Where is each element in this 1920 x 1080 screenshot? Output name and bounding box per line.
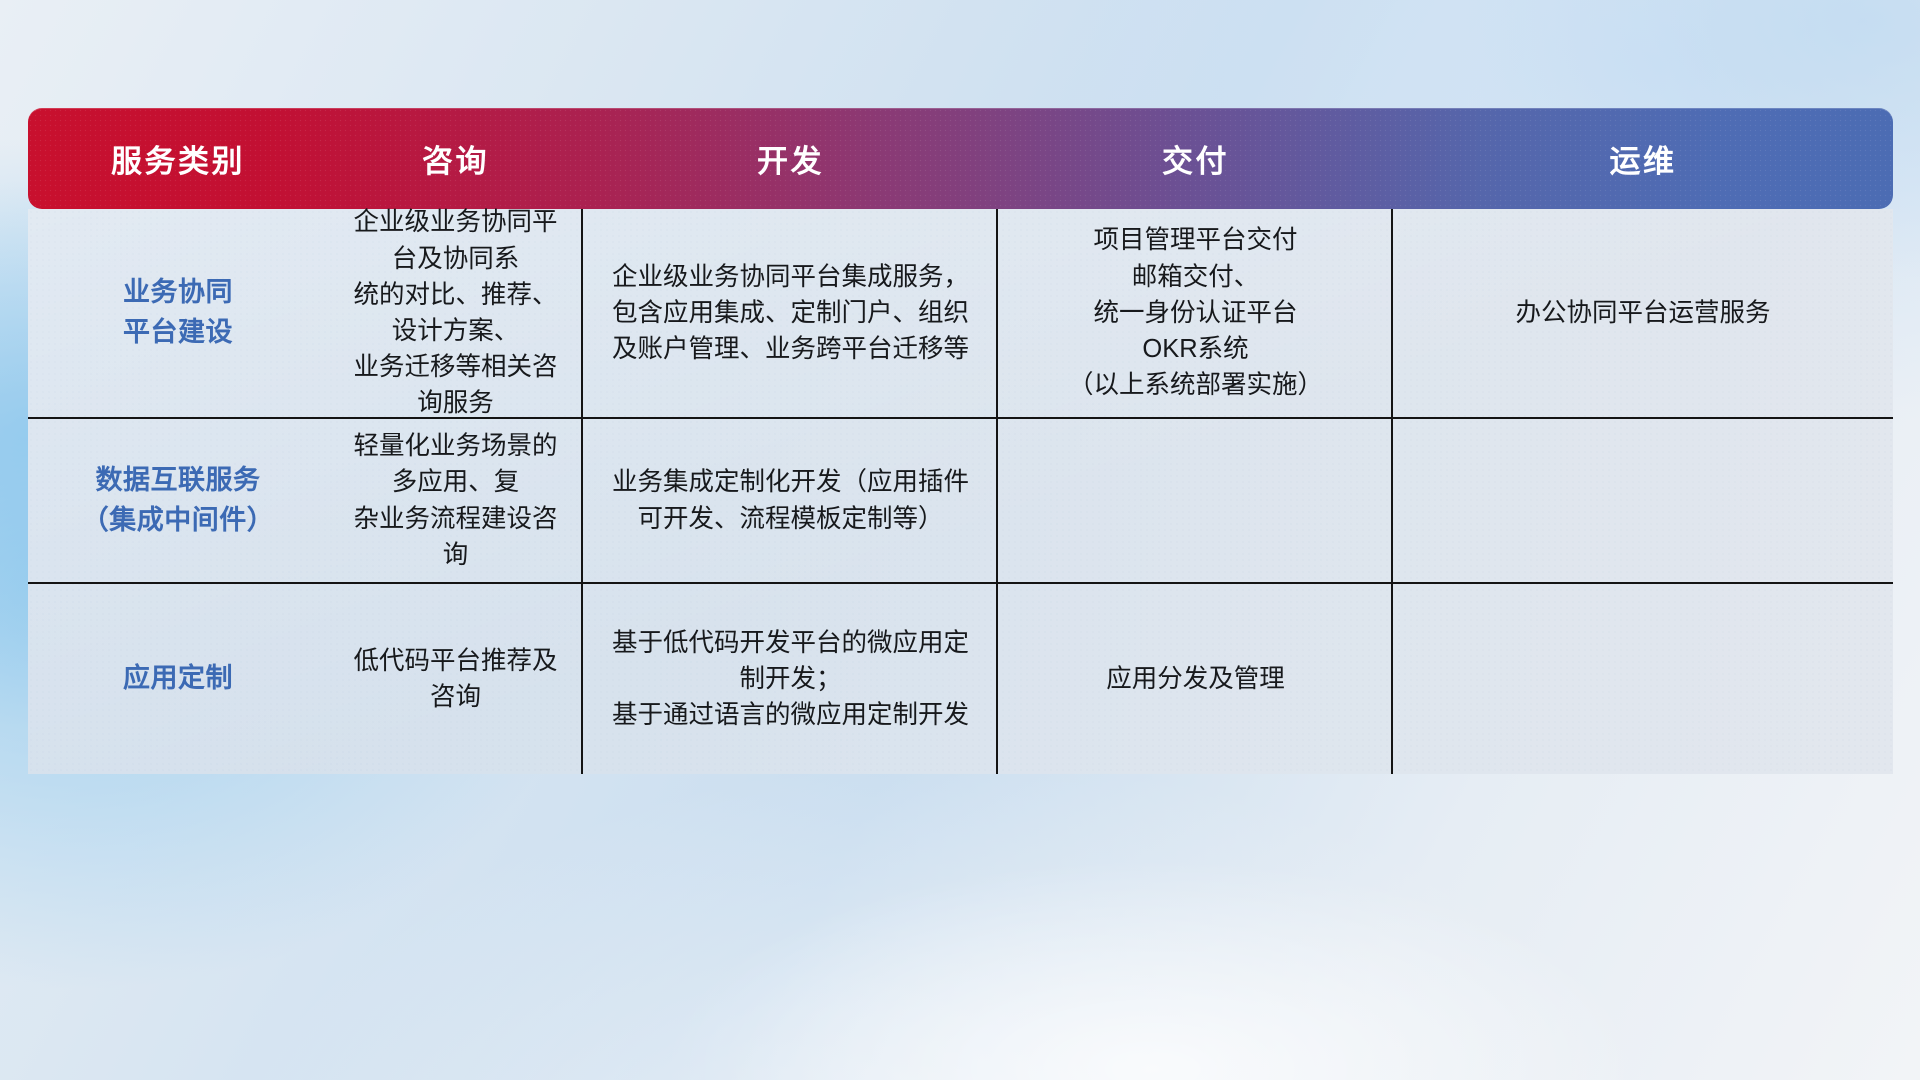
- cell-development-2: 业务集成定制化开发（应用插件 可开发、流程模板定制等）: [583, 419, 998, 582]
- cell-delivery-2: [998, 419, 1393, 582]
- cell-operations-2: [1393, 419, 1893, 582]
- cell-development-3: 基于低代码开发平台的微应用定 制开发； 基于通过语言的微应用定制开发: [583, 584, 998, 774]
- table-body: 业务协同 平台建设 企业级业务协同平台及协同系 统的对比、推荐、设计方案、 业务…: [28, 209, 1893, 774]
- cell-operations-3: [1393, 584, 1893, 774]
- table-row: 应用定制 低代码平台推荐及咨询 基于低代码开发平台的微应用定 制开发； 基于通过…: [28, 582, 1893, 774]
- cell-consulting-1: 企业级业务协同平台及协同系 统的对比、推荐、设计方案、 业务迁移等相关咨询服务: [328, 209, 583, 417]
- table-header-row: 服务类别 咨询 开发 交付 运维: [28, 108, 1893, 209]
- table-row: 业务协同 平台建设 企业级业务协同平台及协同系 统的对比、推荐、设计方案、 业务…: [28, 209, 1893, 417]
- cell-development-1: 企业级业务协同平台集成服务， 包含应用集成、定制门户、组织 及账户管理、业务跨平…: [583, 209, 998, 417]
- cell-operations-1: 办公协同平台运营服务: [1393, 209, 1893, 417]
- cell-category-2: 数据互联服务 （集成中间件）: [28, 419, 328, 582]
- cell-category-3: 应用定制: [28, 584, 328, 774]
- column-header-consulting: 咨询: [328, 136, 583, 181]
- column-header-delivery: 交付: [998, 136, 1393, 181]
- cell-delivery-1: 项目管理平台交付 邮箱交付、 统一身份认证平台 OKR系统 （以上系统部署实施）: [998, 209, 1393, 417]
- column-header-category: 服务类别: [28, 136, 328, 181]
- service-category-table: 服务类别 咨询 开发 交付 运维 业务协同 平台建设 企业级业务协同平台及协同系…: [28, 108, 1893, 776]
- column-header-development: 开发: [583, 136, 998, 181]
- cell-consulting-3: 低代码平台推荐及咨询: [328, 584, 583, 774]
- table-row: 数据互联服务 （集成中间件） 轻量化业务场景的多应用、复 杂业务流程建设咨询 业…: [28, 417, 1893, 582]
- cell-category-1: 业务协同 平台建设: [28, 209, 328, 417]
- cell-consulting-2: 轻量化业务场景的多应用、复 杂业务流程建设咨询: [328, 419, 583, 582]
- cell-delivery-3: 应用分发及管理: [998, 584, 1393, 774]
- column-header-operations: 运维: [1393, 136, 1893, 181]
